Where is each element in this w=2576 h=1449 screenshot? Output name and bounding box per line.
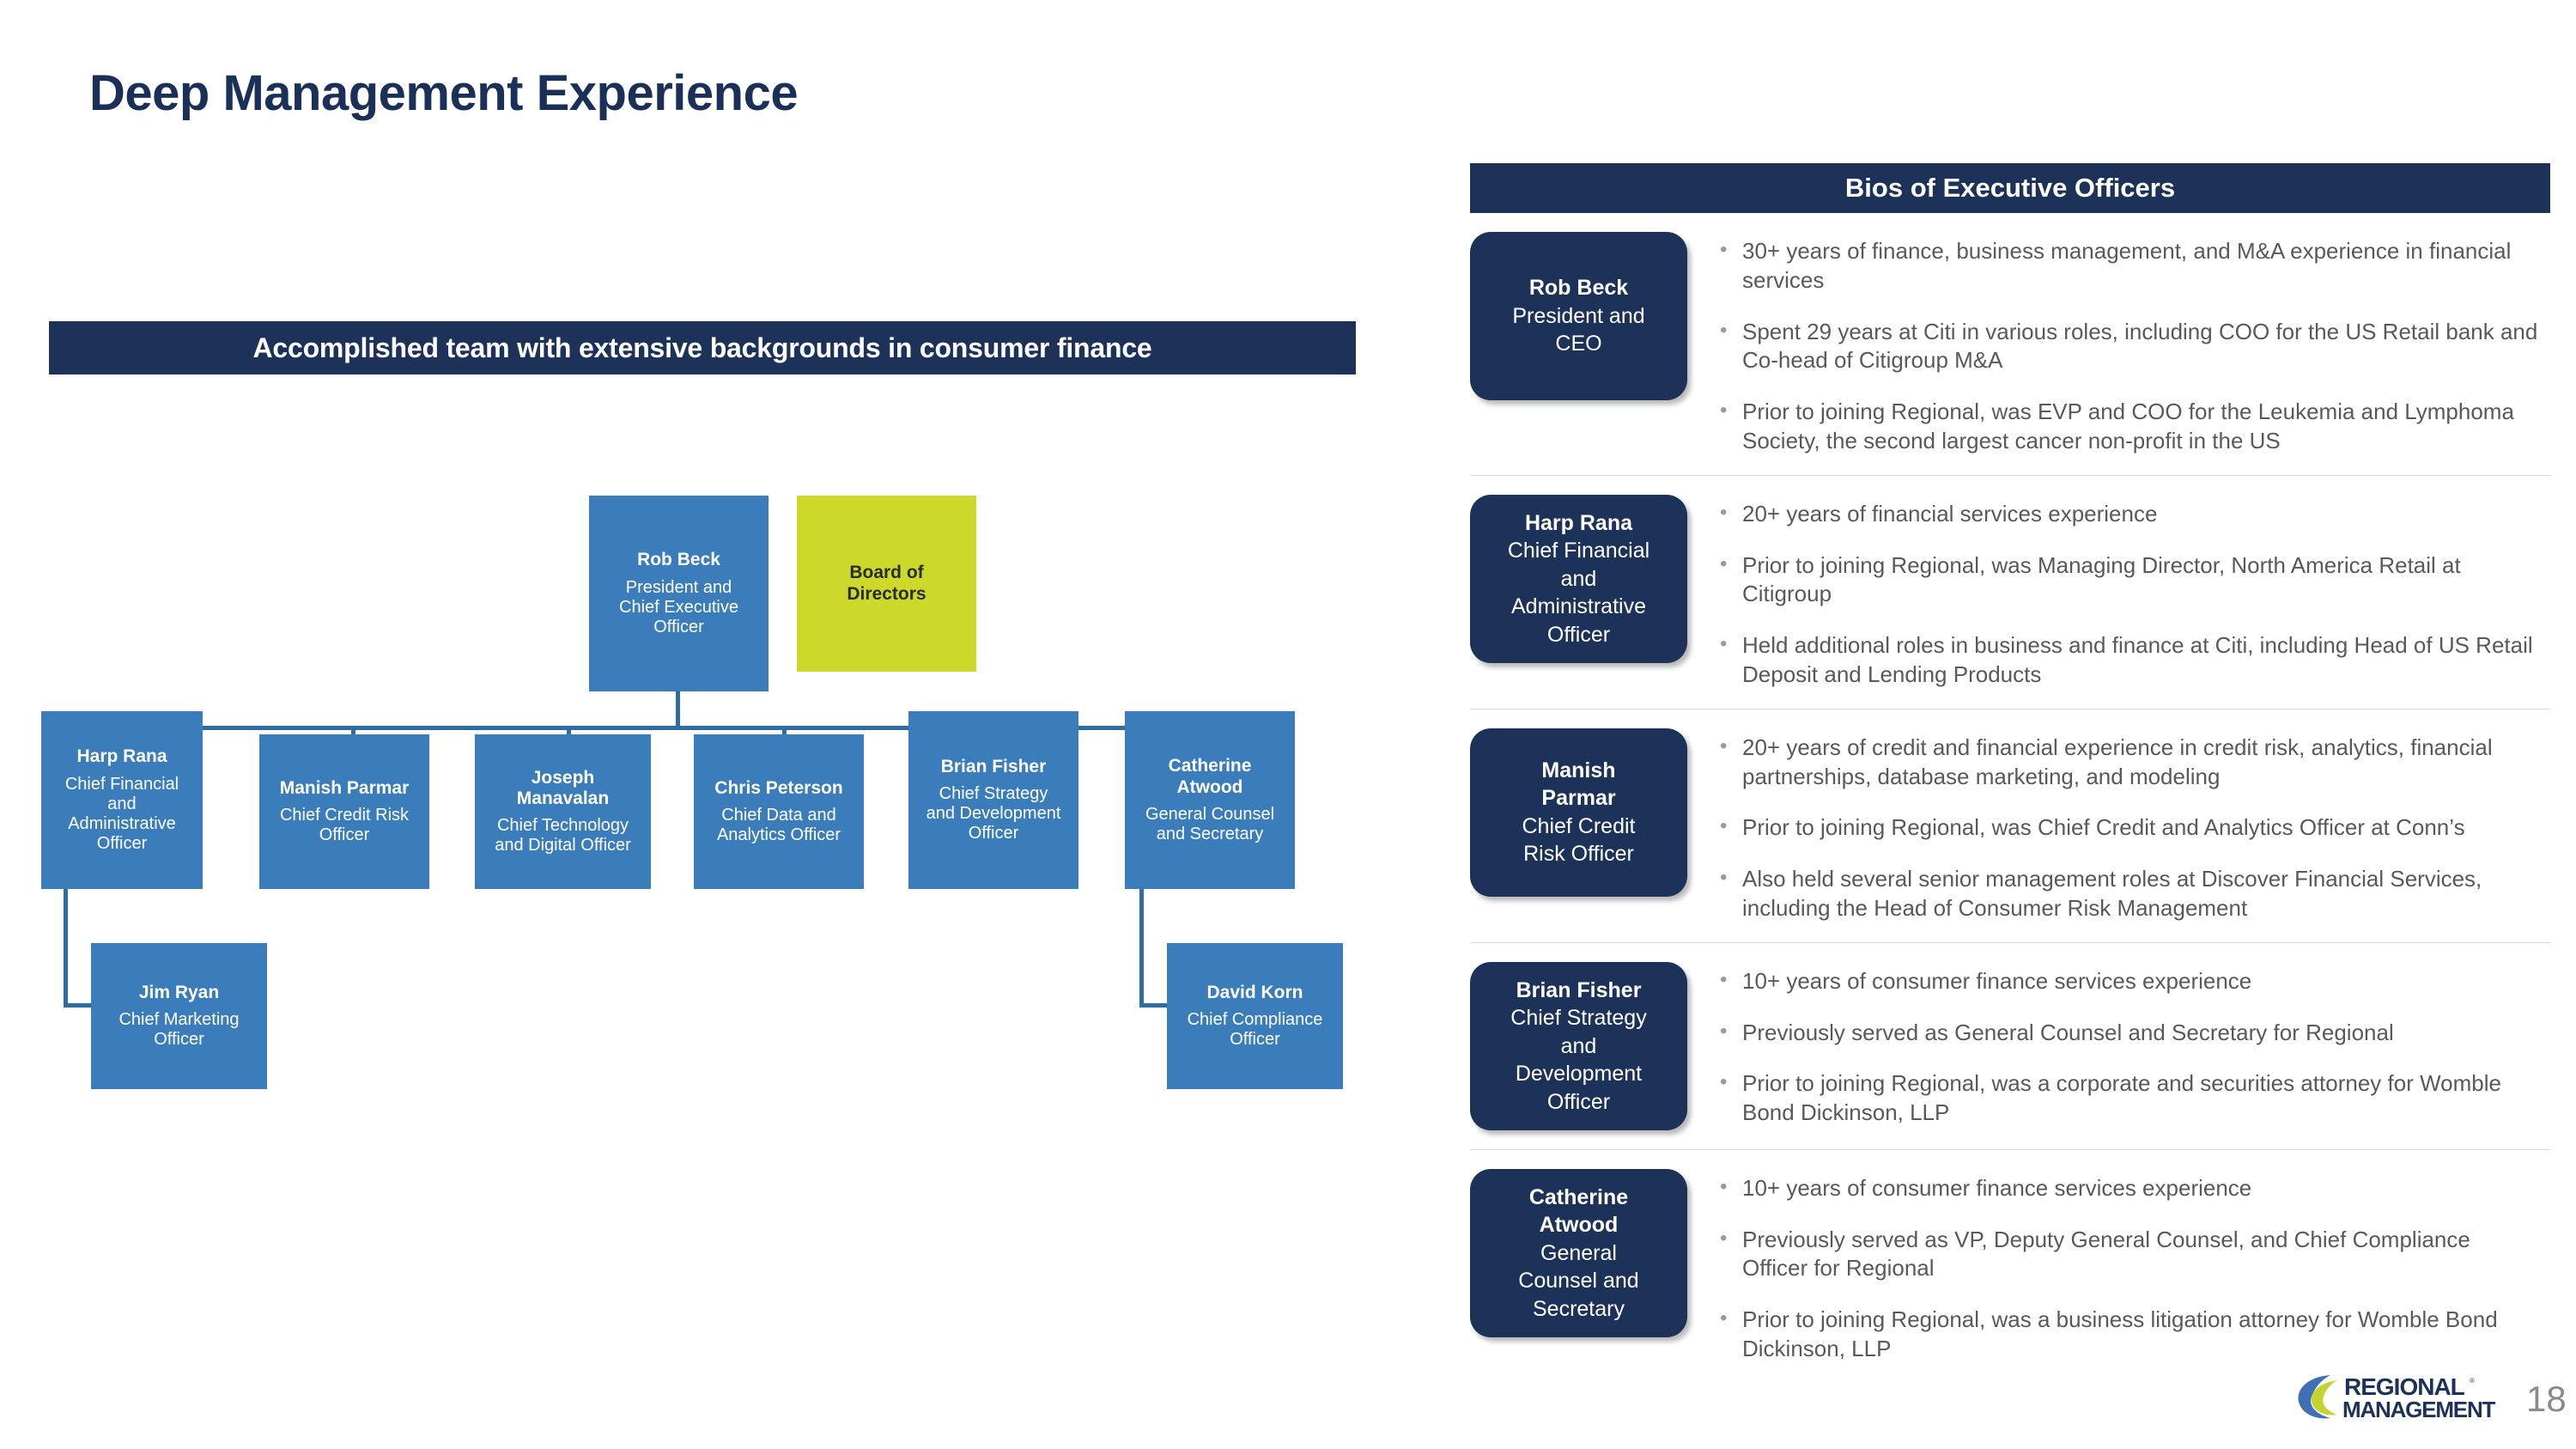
bio-bullet-text: Also held several senior management role… [1742, 865, 2542, 923]
bio-row: Harp RanaChief FinancialandAdministrativ… [1470, 476, 2550, 709]
org-node-title: Chief MarketingOfficer [118, 1010, 239, 1050]
regional-management-logo: REGIONAL ® MANAGEMENT [2293, 1368, 2524, 1425]
bio-row: Rob BeckPresident andCEO•30+ years of fi… [1470, 213, 2550, 476]
bio-bullet-text: Prior to joining Regional, was a busines… [1742, 1306, 2542, 1364]
connector-sub-horizontal-david-korn [1139, 1003, 1169, 1008]
org-node-title: President andChief ExecutiveOfficer [619, 578, 738, 637]
org-node-name: CatherineAtwood [1169, 756, 1252, 797]
bio-officer-chip[interactable]: ManishParmarChief CreditRisk Officer [1470, 728, 1687, 897]
bio-officer-chip[interactable]: Rob BeckPresident andCEO [1470, 232, 1687, 400]
bio-officer-chip[interactable]: Brian FisherChief StrategyandDevelopment… [1470, 962, 1687, 1130]
bio-bullet-text: Previously served as VP, Deputy General … [1742, 1226, 2542, 1284]
bio-row: ManishParmarChief CreditRisk Officer•20+… [1470, 709, 2550, 943]
org-node-name: Harp Rana [76, 746, 167, 767]
org-chart: Rob Beck President andChief ExecutiveOff… [0, 0, 1425, 1449]
bio-bullet-text: 10+ years of consumer finance services e… [1742, 967, 2542, 996]
bio-officer-title: GeneralCounsel andSecretary [1518, 1239, 1638, 1324]
bio-officer-name: Rob Beck [1529, 274, 1628, 302]
bio-officer-name: ManishParmar [1541, 757, 1615, 813]
bios-panel: Bios of Executive Officers Rob BeckPresi… [1470, 163, 2550, 1383]
bullet-dot-icon: • [1720, 500, 1742, 526]
bio-bullet-list: •20+ years of financial services experie… [1687, 495, 2550, 690]
org-node-title: General Counseland Secretary [1145, 805, 1274, 844]
bio-bullet-item: •10+ years of consumer finance services … [1720, 967, 2542, 996]
org-node-title: Chief Data andAnalytics Officer [717, 806, 841, 845]
bullet-dot-icon: • [1720, 967, 1742, 993]
org-node-subreport-david-korn[interactable]: David Korn Chief ComplianceOfficer [1167, 943, 1343, 1089]
connector-root-stem [676, 691, 680, 728]
bio-officer-name: CatherineAtwood [1529, 1184, 1628, 1239]
org-node-title: Chief Technologyand Digital Officer [495, 816, 631, 855]
bio-officer-title: President andCEO [1512, 302, 1644, 358]
svg-text:MANAGEMENT: MANAGEMENT [2342, 1397, 2496, 1422]
bio-bullet-text: Prior to joining Regional, was EVP and C… [1742, 398, 2542, 456]
bio-bullet-item: •Spent 29 years at Citi in various roles… [1720, 318, 2542, 376]
org-node-title: Chief FinancialandAdministrativeOfficer [65, 775, 179, 854]
bullet-dot-icon: • [1720, 631, 1742, 657]
bio-officer-chip[interactable]: CatherineAtwoodGeneralCounsel andSecreta… [1470, 1169, 1687, 1337]
org-node-board-of-directors[interactable]: Board ofDirectors [797, 496, 976, 672]
bio-bullet-item: •Also held several senior management rol… [1720, 865, 2542, 923]
bio-bullet-item: •Prior to joining Regional, was a corpor… [1720, 1069, 2542, 1128]
org-node-name: Rob Beck [637, 550, 720, 570]
bio-row: Brian FisherChief StrategyandDevelopment… [1470, 943, 2550, 1150]
bio-bullet-list: •10+ years of consumer finance services … [1687, 1169, 2550, 1364]
bullet-dot-icon: • [1720, 398, 1742, 423]
bio-bullet-item: •20+ years of financial services experie… [1720, 500, 2542, 529]
bio-bullet-list: •20+ years of credit and financial exper… [1687, 728, 2550, 923]
bio-bullet-item: •10+ years of consumer finance services … [1720, 1174, 2542, 1203]
bio-bullet-text: 20+ years of financial services experien… [1742, 500, 2542, 529]
bio-bullet-item: •Held additional roles in business and f… [1720, 631, 2542, 690]
bio-officer-title: Chief StrategyandDevelopmentOfficer [1510, 1004, 1646, 1116]
org-node-title: Chief ComplianceOfficer [1188, 1010, 1323, 1050]
bullet-dot-icon: • [1720, 865, 1742, 891]
bullet-dot-icon: • [1720, 813, 1742, 839]
connector-sub-vertical-david-korn [1139, 889, 1144, 1008]
org-node-report-0[interactable]: Harp Rana Chief FinancialandAdministrati… [41, 711, 203, 889]
bio-bullet-item: •20+ years of credit and financial exper… [1720, 734, 2542, 792]
bios-panel-header: Bios of Executive Officers [1470, 163, 2550, 213]
bio-bullet-item: •Previously served as VP, Deputy General… [1720, 1226, 2542, 1284]
bio-bullet-list: •30+ years of finance, business manageme… [1687, 232, 2550, 456]
org-node-name: Jim Ryan [139, 983, 219, 1003]
slide-root: Deep Management Experience Accomplished … [0, 0, 2576, 1449]
bio-bullet-item: •30+ years of finance, business manageme… [1720, 237, 2542, 295]
org-node-report-5[interactable]: CatherineAtwood General Counseland Secre… [1125, 711, 1295, 889]
bios-panel-header-label: Bios of Executive Officers [1845, 173, 2175, 204]
bio-officer-title: Chief CreditRisk Officer [1522, 813, 1636, 868]
org-node-report-3[interactable]: Chris Peterson Chief Data andAnalytics O… [694, 734, 864, 889]
org-node-name: Brian Fisher [941, 757, 1047, 777]
org-node-report-1[interactable]: Manish Parmar Chief Credit RiskOfficer [259, 734, 429, 889]
org-node-name: Manish Parmar [280, 778, 410, 799]
org-node-title: Chief Strategyand DevelopmentOfficer [927, 784, 1061, 843]
bullet-dot-icon: • [1720, 1226, 1742, 1251]
org-node-subreport-jim-ryan[interactable]: Jim Ryan Chief MarketingOfficer [91, 943, 267, 1089]
bullet-dot-icon: • [1720, 1069, 1742, 1095]
bullet-dot-icon: • [1720, 1174, 1742, 1200]
bio-bullet-item: •Previously served as General Counsel an… [1720, 1019, 2542, 1048]
connector-sub-horizontal-jim-ryan [64, 1003, 93, 1008]
org-node-name: JosephManavalan [517, 768, 609, 809]
bio-bullet-text: Prior to joining Regional, was Chief Cre… [1742, 813, 2542, 843]
bio-bullet-text: Held additional roles in business and fi… [1742, 631, 2542, 690]
bio-bullet-text: Spent 29 years at Citi in various roles,… [1742, 318, 2542, 376]
bio-officer-name: Harp Rana [1525, 509, 1632, 538]
bios-list: Rob BeckPresident andCEO•30+ years of fi… [1470, 213, 2550, 1383]
org-node-report-4[interactable]: Brian Fisher Chief Strategyand Developme… [908, 711, 1078, 889]
bio-bullet-text: Prior to joining Regional, was Managing … [1742, 551, 2542, 610]
bio-bullet-text: 10+ years of consumer finance services e… [1742, 1174, 2542, 1203]
bullet-dot-icon: • [1720, 237, 1742, 263]
org-node-report-2[interactable]: JosephManavalan Chief Technologyand Digi… [475, 734, 651, 889]
connector-sub-vertical-jim-ryan [64, 889, 68, 1008]
bullet-dot-icon: • [1720, 551, 1742, 577]
bullet-dot-icon: • [1720, 1019, 1742, 1044]
bio-officer-title: Chief FinancialandAdministrativeOfficer [1508, 537, 1649, 648]
bio-bullet-text: 20+ years of credit and financial experi… [1742, 734, 2542, 792]
bio-bullet-item: •Prior to joining Regional, was Chief Cr… [1720, 813, 2542, 843]
org-node-root[interactable]: Rob Beck President andChief ExecutiveOff… [589, 496, 769, 691]
org-node-name: Board ofDirectors [847, 563, 926, 604]
bio-bullet-item: •Prior to joining Regional, was a busine… [1720, 1306, 2542, 1364]
bullet-dot-icon: • [1720, 1306, 1742, 1331]
svg-text:®: ® [2470, 1377, 2475, 1385]
bio-officer-chip[interactable]: Harp RanaChief FinancialandAdministrativ… [1470, 495, 1687, 663]
org-node-name: David Korn [1206, 983, 1303, 1003]
bullet-dot-icon: • [1720, 734, 1742, 759]
bio-bullet-text: Prior to joining Regional, was a corpora… [1742, 1069, 2542, 1128]
org-node-title: Chief Credit RiskOfficer [280, 806, 409, 845]
bio-row: CatherineAtwoodGeneralCounsel andSecreta… [1470, 1150, 2550, 1383]
bio-bullet-item: •Prior to joining Regional, was EVP and … [1720, 398, 2542, 456]
bio-bullet-text: Previously served as General Counsel and… [1742, 1019, 2542, 1048]
bio-bullet-item: •Prior to joining Regional, was Managing… [1720, 551, 2542, 610]
bio-bullet-text: 30+ years of finance, business managemen… [1742, 237, 2542, 295]
bullet-dot-icon: • [1720, 318, 1742, 344]
page-number: 18 [2526, 1379, 2567, 1420]
org-node-name: Chris Peterson [714, 778, 842, 799]
bio-officer-name: Brian Fisher [1516, 977, 1642, 1005]
bio-bullet-list: •10+ years of consumer finance services … [1687, 962, 2550, 1128]
